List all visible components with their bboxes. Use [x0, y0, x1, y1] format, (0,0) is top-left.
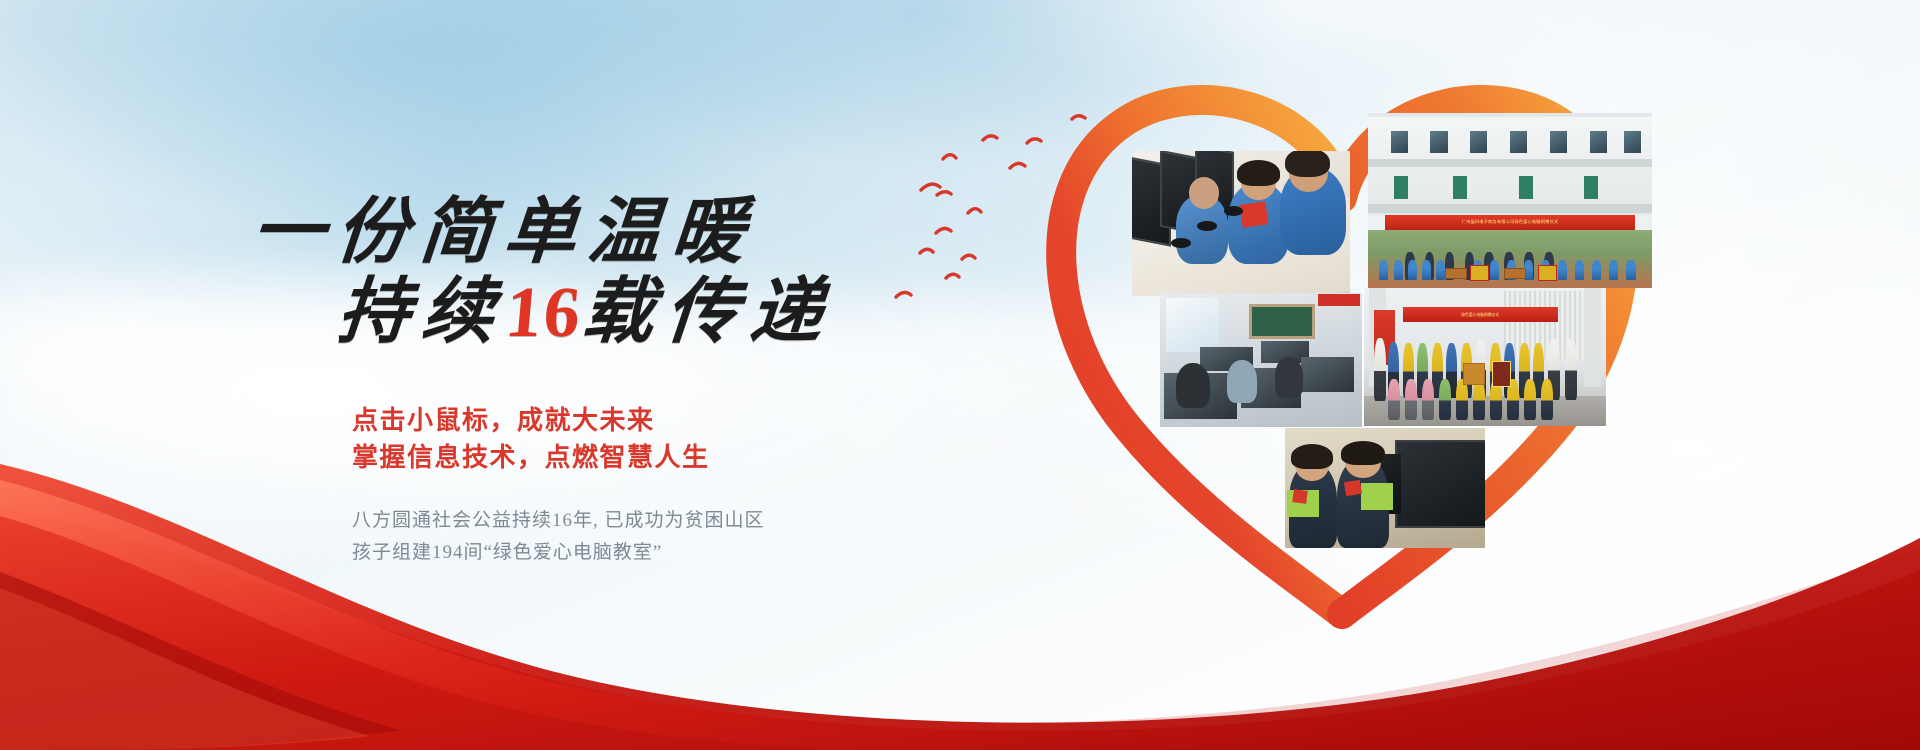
ceremony-banner-indoor: 绿色爱心电脑捐赠仪式 [1403, 307, 1558, 322]
ceremony-banner-outdoor-text: 广州晶科电子商务有限公司绿色爱心电脑捐赠仪式 [1462, 219, 1559, 225]
headline-line-2: 持续16载传递 [335, 276, 875, 348]
headline-line-2-suffix: 载传递 [579, 272, 838, 352]
photo-computer-lab-students-row [1132, 151, 1350, 296]
photo-computer-classroom-wide [1160, 293, 1362, 427]
ceremony-banner-outdoor: 广州晶科电子商务有限公司绿色爱心电脑捐赠仪式 [1385, 215, 1635, 231]
flying-birds-icon [880, 95, 1110, 325]
red-silk-ribbon-icon [0, 420, 1920, 750]
photo-school-donation-ceremony-outdoor: 广州晶科电子商务有限公司绿色爱心电脑捐赠仪式 [1368, 113, 1652, 288]
headline-line-1: 一份简单温暖 [249, 196, 875, 268]
headline-year-number: 16 [503, 272, 586, 352]
ceremony-banner-indoor-text: 绿色爱心电脑捐赠仪式 [1461, 312, 1499, 318]
photo-school-donation-ceremony-indoor: 绿色爱心电脑捐赠仪式 [1364, 288, 1606, 426]
headline: 一份简单温暖 持续16载传递 [252, 196, 872, 348]
headline-line-2-prefix: 持续 [335, 272, 510, 352]
banner-stage: 广州晶科电子商务有限公司绿色爱心电脑捐赠仪式 [0, 0, 1920, 750]
